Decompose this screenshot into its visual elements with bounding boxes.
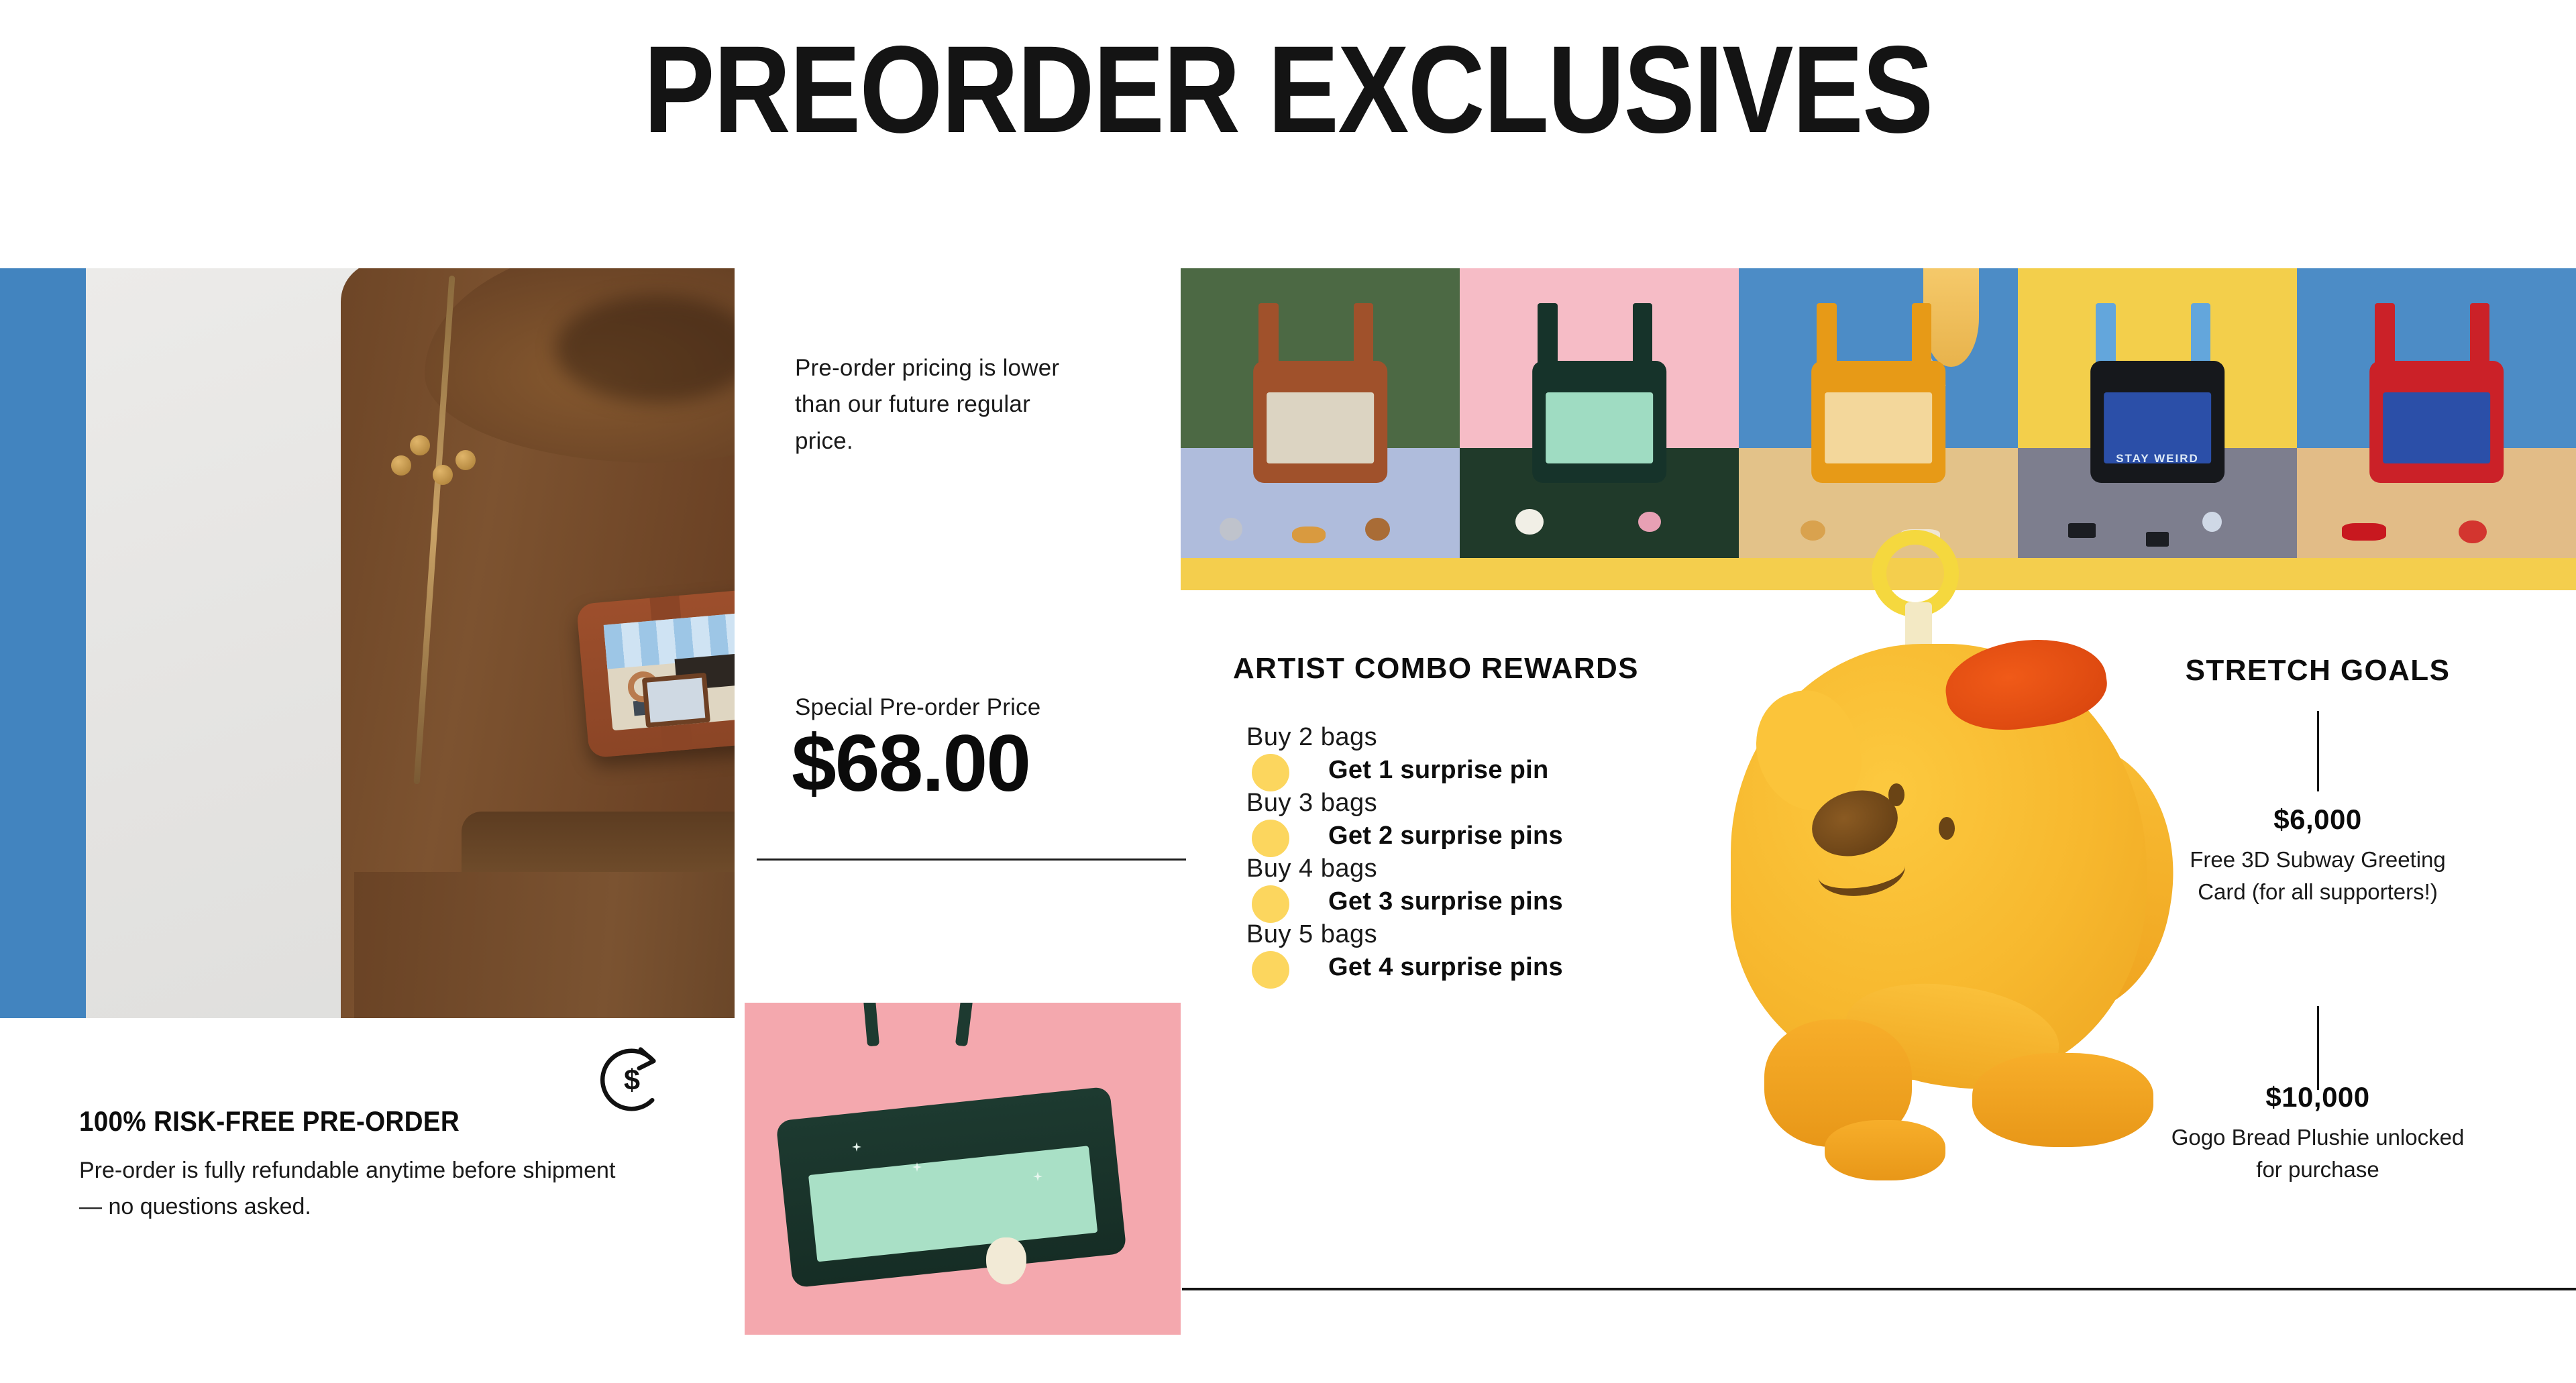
plushie-strap-tab <box>1905 602 1932 649</box>
thumbnail-2[interactable] <box>1739 268 2018 558</box>
reward-dot-icon <box>1252 951 1289 989</box>
green-ghost-bag <box>775 1087 1126 1288</box>
stretch-goals-title: STRETCH GOALS <box>2177 654 2459 687</box>
combo-row: Buy 2 bags Get 1 surprise pin <box>1233 723 1729 789</box>
combo-get-label: Get 1 surprise pin <box>1328 756 1549 785</box>
thumbnail-1[interactable] <box>1460 268 1739 558</box>
reward-dot-icon <box>1252 820 1289 857</box>
white-bear-charm <box>986 1237 1026 1284</box>
hand-holding-spatula <box>1923 268 1979 367</box>
stretch-goal-connector <box>2317 1006 2319 1090</box>
thumbnail-4[interactable] <box>2297 268 2576 558</box>
risk-free-body: Pre-order is fully refundable anytime be… <box>79 1152 629 1225</box>
combo-row: Buy 4 bags Get 3 surprise pins <box>1233 854 1729 920</box>
special-price-value: $68.00 <box>792 723 1167 804</box>
stretch-goal-desc: Gogo Bread Plushie unlocked for purchase <box>2163 1121 2472 1186</box>
pink-product-photo <box>745 1003 1181 1335</box>
bottom-divider <box>1182 1288 2576 1290</box>
combo-rewards-title: ARTIST COMBO REWARDS <box>1233 652 1639 685</box>
combo-row: Buy 3 bags Get 2 surprise pins <box>1233 789 1729 854</box>
thumbnail-3[interactable]: STAY WEIRD <box>2018 268 2297 558</box>
combo-buy-label: Buy 4 bags <box>1246 854 1377 883</box>
reward-dot-icon <box>1252 885 1289 923</box>
price-divider <box>757 859 1186 861</box>
blue-side-bar <box>0 268 86 1018</box>
reward-dot-icon <box>1252 754 1289 791</box>
thumbnail-0[interactable] <box>1181 268 1460 558</box>
combo-rewards-list: Buy 2 bags Get 1 surprise pin Buy 3 bags… <box>1233 723 1729 986</box>
svg-text:$: $ <box>624 1064 640 1097</box>
special-price-label: Special Pre-order Price <box>795 694 1144 721</box>
combo-get-label: Get 3 surprise pins <box>1328 887 1563 916</box>
hero-backdrop <box>86 268 735 1018</box>
model-pants <box>354 872 735 1018</box>
combo-buy-label: Buy 2 bags <box>1246 723 1377 752</box>
jacket-charms <box>391 433 478 506</box>
combo-buy-label: Buy 3 bags <box>1246 789 1377 818</box>
gogo-bread-plushie <box>1657 523 2220 1261</box>
preorder-pricing-note: Pre-order pricing is lower than our futu… <box>795 350 1090 459</box>
stretch-goal-connector <box>2317 711 2319 791</box>
hero-product-photo <box>0 268 735 1018</box>
stretch-goal-amount: $6,000 <box>2177 804 2459 836</box>
risk-free-title: 100% RISK-FREE PRE-ORDER <box>79 1105 460 1138</box>
stretch-goal-amount: $10,000 <box>2177 1081 2459 1113</box>
combo-buy-label: Buy 5 bags <box>1246 920 1377 949</box>
combo-row: Buy 5 bags Get 4 surprise pins <box>1233 920 1729 986</box>
combo-get-label: Get 2 surprise pins <box>1328 822 1563 850</box>
thumbnail-3-caption: STAY WEIRD <box>2116 452 2199 465</box>
combo-get-label: Get 4 surprise pins <box>1328 953 1563 982</box>
refund-dollar-icon: $ <box>596 1044 668 1116</box>
page-title: PREORDER EXCLUSIVES <box>180 28 2396 152</box>
hero-bag-product <box>576 577 735 759</box>
product-variant-strip: STAY WEIRD <box>1181 268 2576 558</box>
stretch-goal-desc: Free 3D Subway Greeting Card (for all su… <box>2163 844 2472 908</box>
